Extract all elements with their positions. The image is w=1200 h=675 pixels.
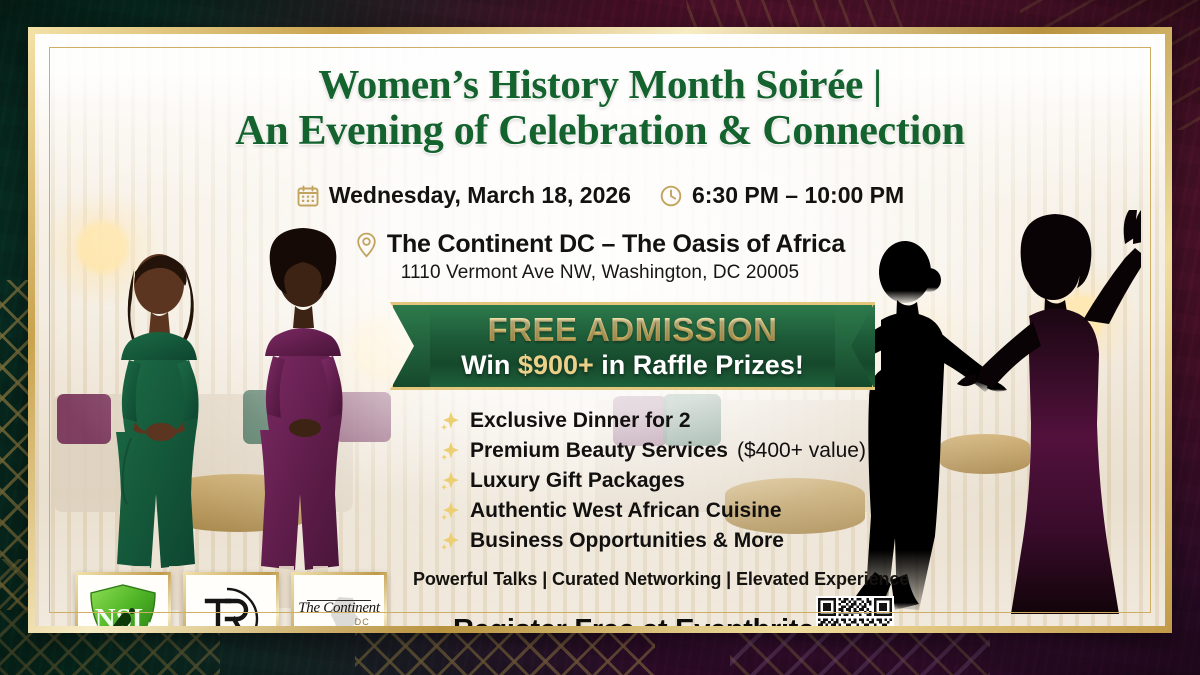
qr-code-icon: [818, 598, 892, 626]
sparkle-icon: [439, 470, 461, 492]
raffle-amount: $900+: [518, 350, 594, 380]
nsl-shield-icon: NSL NIGERIAN SOCCER LEAGUE: [87, 582, 159, 626]
list-item: Premium Beauty Services ($400+ value): [439, 436, 866, 466]
time-item: 6:30 PM – 10:00 PM: [659, 182, 904, 209]
calendar-icon: [296, 184, 320, 208]
list-item-note: ($400+ value): [737, 439, 866, 463]
list-item-label: Exclusive Dinner for 2: [470, 409, 691, 433]
flyer-card: Women’s History Month Soirée | An Evenin…: [35, 34, 1165, 626]
raffle-suffix: in Raffle Prizes!: [594, 350, 804, 380]
title-line-2: An Evening of Celebration & Connection: [35, 108, 1165, 155]
event-time: 6:30 PM – 10:00 PM: [692, 182, 904, 209]
sparkle-icon: [439, 410, 461, 432]
tek-remedy-inner: TEK REMEDY: [186, 575, 276, 626]
clock-icon: [659, 184, 683, 208]
gold-frame: Women’s History Month Soirée | An Evenin…: [28, 27, 1172, 633]
ribbon-text: FREE ADMISSION Win $900+ in Raffle Prize…: [390, 302, 875, 390]
list-item: Authentic West African Cuisine: [439, 496, 866, 526]
map-pin-icon: [355, 232, 378, 258]
list-item-label: Authentic West African Cuisine: [470, 499, 782, 523]
free-admission-banner: FREE ADMISSION Win $900+ in Raffle Prize…: [390, 302, 875, 390]
event-tagline: Powerful Talks | Curated Networking | El…: [413, 569, 909, 590]
date-item: Wednesday, March 18, 2026: [296, 182, 631, 209]
list-item: Luxury Gift Packages: [439, 466, 866, 496]
raffle-subline: Win $900+ in Raffle Prizes!: [461, 350, 804, 381]
logo-the-continent-dc[interactable]: The Continent DC The Oasis of Africa: [291, 572, 387, 626]
continent-inner: The Continent DC The Oasis of Africa: [294, 575, 384, 626]
venue-name: The Continent DC – The Oasis of Africa: [387, 230, 845, 259]
tek-remedy-monogram-icon: [193, 583, 269, 627]
venue-row: The Continent DC – The Oasis of Africa: [35, 230, 1165, 259]
event-date: Wednesday, March 18, 2026: [329, 182, 631, 209]
africa-map-icon: [326, 595, 364, 626]
page-title: Women’s History Month Soirée | An Evenin…: [35, 62, 1165, 155]
sparkle-icon: [439, 530, 461, 552]
logo-nsl[interactable]: NSL NIGERIAN SOCCER LEAGUE: [75, 572, 171, 626]
sparkle-icon: [439, 500, 461, 522]
list-item-label: Luxury Gift Packages: [470, 469, 685, 493]
register-cta[interactable]: Register Free at Eventbrite: [453, 614, 814, 626]
list-item: Business Opportunities & More: [439, 526, 866, 556]
title-line-1: Women’s History Month Soirée |: [318, 61, 881, 107]
sponsor-logos: NSL NIGERIAN SOCCER LEAGUE: [75, 572, 387, 626]
list-item-label: Business Opportunities & More: [470, 529, 784, 553]
event-flyer: Women’s History Month Soirée | An Evenin…: [0, 0, 1200, 675]
logo-tek-remedy[interactable]: TEK REMEDY: [183, 572, 279, 626]
date-time-row: Wednesday, March 18, 2026 6:30 PM – 10:0…: [35, 182, 1165, 209]
free-admission-headline: FREE ADMISSION: [488, 311, 778, 349]
list-item-label: Premium Beauty Services: [470, 439, 728, 463]
venue-address: 1110 Vermont Ave NW, Washington, DC 2000…: [35, 262, 1165, 284]
raffle-prefix: Win: [461, 350, 518, 380]
perks-list: Exclusive Dinner for 2 Premium Beauty Se…: [439, 406, 866, 556]
flyer-content: Women’s History Month Soirée | An Evenin…: [35, 34, 1165, 626]
list-item: Exclusive Dinner for 2: [439, 406, 866, 436]
qr-code[interactable]: [816, 596, 894, 626]
sparkle-icon: [439, 440, 461, 462]
